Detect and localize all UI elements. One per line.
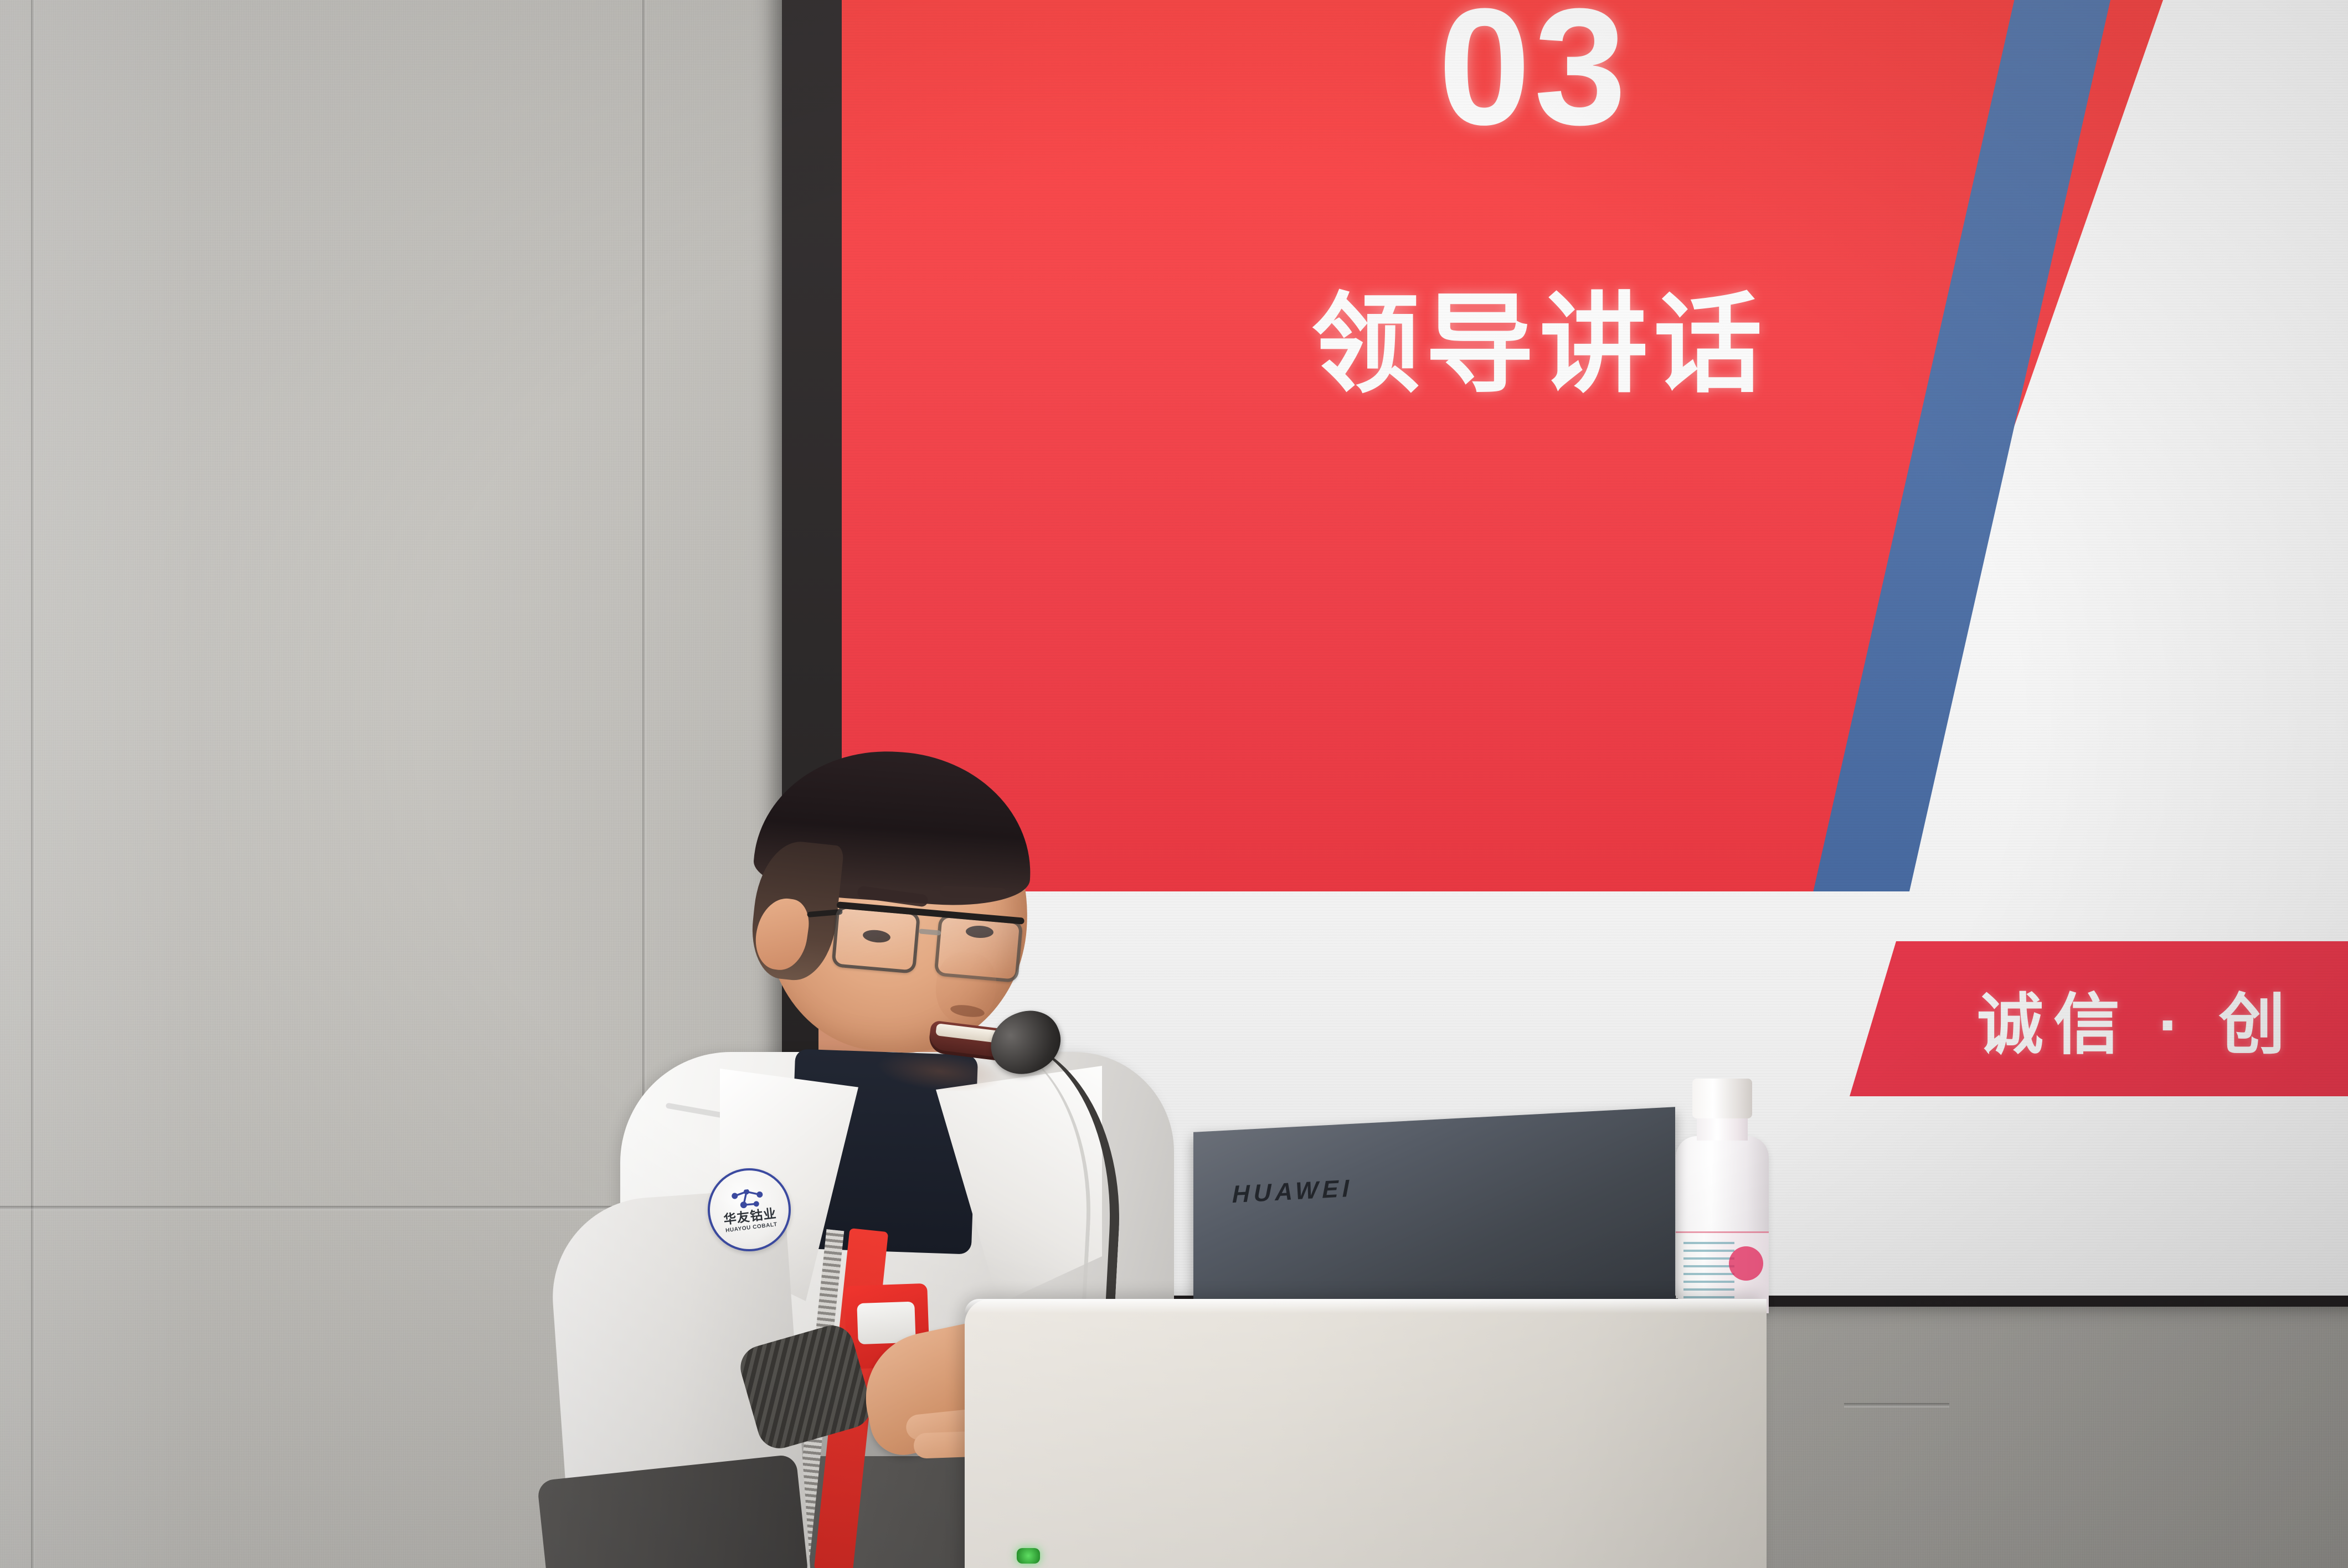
bottle-neck: [1697, 1115, 1748, 1141]
wall-panel-seam-horizontal: [1844, 1403, 1949, 1407]
wall-light-falloff: [0, 0, 199, 1568]
lectern-top-edge: [965, 1299, 1767, 1313]
bottle-label-graphic: [1729, 1246, 1763, 1281]
photo-scene: 03 领导讲话 诚信 · 创 HUAWEI: [0, 0, 2348, 1568]
wall-panel-seam-vertical: [31, 0, 35, 1568]
slide-slogan-text: 诚信 · 创: [1977, 971, 2295, 1067]
glasses-lens-left: [831, 905, 920, 974]
slide-slogan-ribbon: 诚信 · 创: [1850, 941, 2348, 1096]
huayou-molecule-icon: [729, 1187, 768, 1210]
bottle-label-text-lines: [1683, 1242, 1734, 1303]
slide-section-number: 03: [1340, 0, 1728, 149]
bottle-cap[interactable]: [1692, 1079, 1752, 1118]
lectern: [965, 1299, 1767, 1568]
water-bottle[interactable]: [1672, 1079, 1772, 1311]
slide-section-title: 领导讲话: [1263, 288, 1816, 402]
eyebrow: [940, 886, 1007, 899]
microphone-status-led: [1017, 1548, 1040, 1564]
